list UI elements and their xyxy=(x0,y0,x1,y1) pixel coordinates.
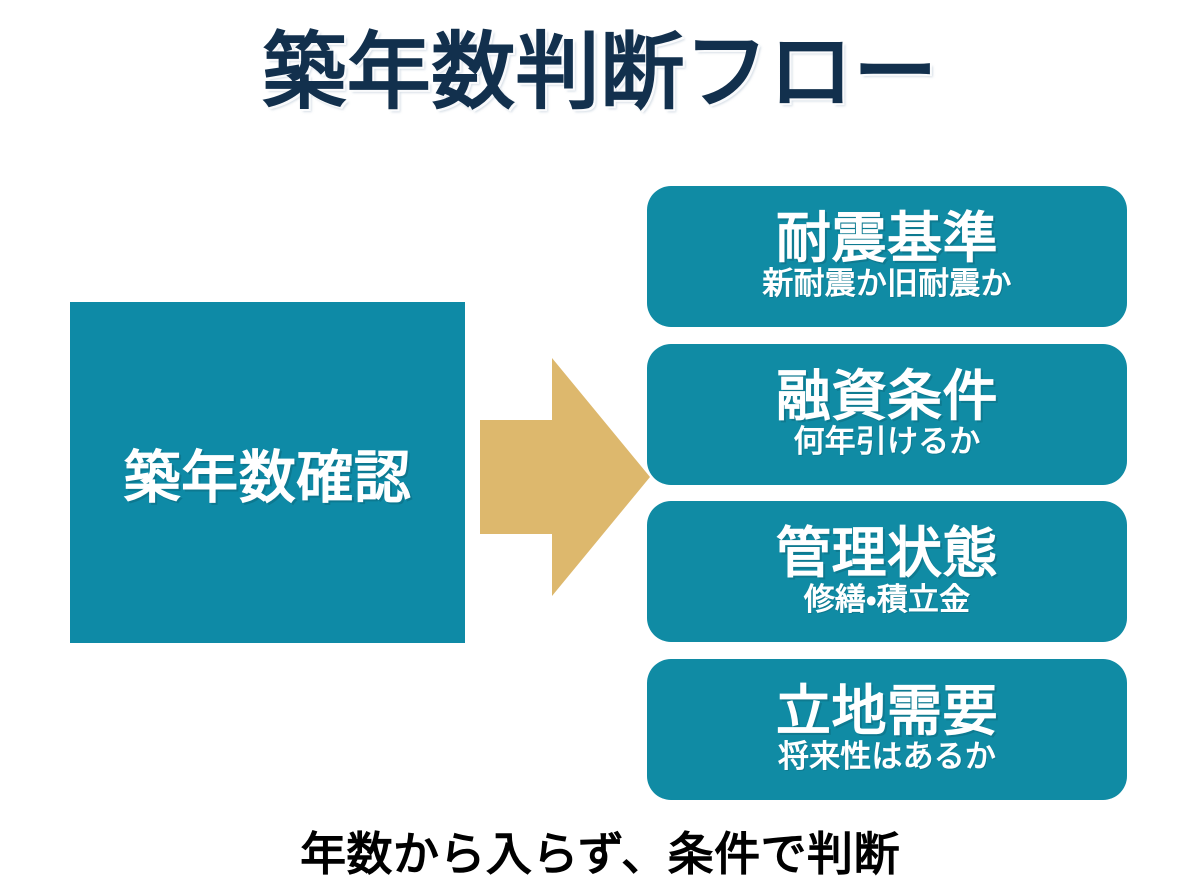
criteria-card[interactable]: 融資条件 何年引けるか xyxy=(647,344,1127,485)
footer-caption: 年数から入らず、条件で判断 xyxy=(0,818,1200,884)
criteria-card-subtitle: 新耐震か旧耐震か xyxy=(762,268,1011,301)
right-arrow-icon xyxy=(480,358,650,596)
criteria-card[interactable]: 耐震基準 新耐震か旧耐震か xyxy=(647,186,1127,327)
page-title: 築年数判断フロー xyxy=(0,28,1200,116)
criteria-card-title: 融資条件 xyxy=(776,368,998,424)
criteria-card-subtitle: 将来性はあるか xyxy=(778,741,996,774)
source-node: 築年数確認 xyxy=(70,302,465,643)
criteria-card-title: 耐震基準 xyxy=(776,210,998,266)
criteria-card-subtitle: 修繕・積立金 xyxy=(804,584,970,617)
criteria-card-title: 管理状態 xyxy=(776,525,998,581)
diagram-canvas: 築年数判断フロー 築年数確認 耐震基準 新耐震か旧耐震か 融資条件 何年引けるか… xyxy=(0,0,1200,896)
criteria-card-list: 耐震基準 新耐震か旧耐震か 融資条件 何年引けるか 管理状態 修繕・積立金 立地… xyxy=(647,186,1127,800)
criteria-card-subtitle: 何年引けるか xyxy=(794,426,981,459)
criteria-card[interactable]: 管理状態 修繕・積立金 xyxy=(647,501,1127,642)
criteria-card[interactable]: 立地需要 将来性はあるか xyxy=(647,659,1127,800)
source-node-label: 築年数確認 xyxy=(124,432,412,514)
criteria-card-title: 立地需要 xyxy=(776,683,998,739)
